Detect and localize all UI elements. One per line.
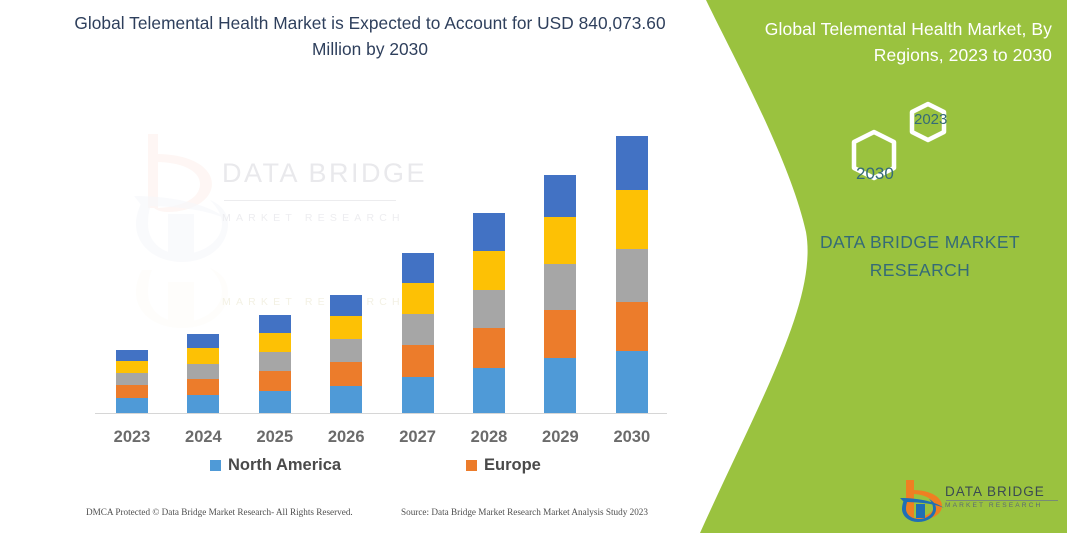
panel-brand-line2: RESEARCH	[790, 256, 1050, 284]
bar-segment-middle-east-and-africa[interactable]	[187, 334, 219, 348]
chart-plot-area	[0, 0, 700, 414]
footer-copyright: DMCA Protected © Data Bridge Market Rese…	[86, 507, 353, 517]
bar-segment-south-america[interactable]	[616, 190, 648, 249]
bar-segment-middle-east-and-africa[interactable]	[116, 350, 148, 361]
x-axis-label-2024: 2024	[173, 428, 233, 447]
bar-segment-north-america[interactable]	[330, 386, 362, 413]
bar-segment-north-america[interactable]	[259, 391, 291, 413]
bar-segment-asia-pacific[interactable]	[116, 373, 148, 385]
panel-brand-line1: DATA BRIDGE MARKET	[790, 228, 1050, 256]
bar-segment-south-america[interactable]	[116, 361, 148, 373]
bar-segment-north-america[interactable]	[116, 398, 148, 413]
bar-segment-asia-pacific[interactable]	[473, 290, 505, 328]
bar-2026[interactable]	[330, 295, 362, 413]
legend-swatch-icon	[210, 460, 221, 471]
bar-segment-south-america[interactable]	[544, 217, 576, 264]
bar-segment-south-america[interactable]	[330, 316, 362, 339]
legend-swatch-icon	[466, 460, 477, 471]
bar-segment-middle-east-and-africa[interactable]	[616, 136, 648, 190]
legend-label: Europe	[484, 456, 541, 475]
bar-segment-middle-east-and-africa[interactable]	[544, 175, 576, 217]
x-axis-label-2028: 2028	[459, 428, 519, 447]
bar-segment-europe[interactable]	[473, 328, 505, 368]
bar-segment-europe[interactable]	[187, 379, 219, 395]
bar-2023[interactable]	[116, 350, 148, 413]
x-axis-label-2025: 2025	[245, 428, 305, 447]
bar-segment-south-america[interactable]	[473, 251, 505, 290]
x-axis-label-2026: 2026	[316, 428, 376, 447]
bar-segment-asia-pacific[interactable]	[402, 314, 434, 345]
hexagon-group: 2030 2023	[820, 98, 1000, 208]
x-axis-label-2027: 2027	[388, 428, 448, 447]
x-axis-labels: 20232024202520262027202820292030	[0, 428, 700, 454]
bar-segment-europe[interactable]	[259, 371, 291, 391]
bar-segment-middle-east-and-africa[interactable]	[402, 253, 434, 283]
bar-segment-middle-east-and-africa[interactable]	[330, 295, 362, 316]
legend-label: North America	[228, 456, 341, 475]
bar-segment-asia-pacific[interactable]	[259, 352, 291, 371]
bar-2028[interactable]	[473, 213, 505, 413]
x-axis-label-2023: 2023	[102, 428, 162, 447]
bar-2029[interactable]	[544, 175, 576, 413]
bar-segment-europe[interactable]	[544, 310, 576, 358]
bar-segment-middle-east-and-africa[interactable]	[259, 315, 291, 333]
infographic-canvas: Global Telemental Health Market, By Regi…	[0, 0, 1067, 533]
panel-brand-text: DATA BRIDGE MARKET RESEARCH	[790, 228, 1050, 284]
hexagon-2023-label: 2023	[914, 111, 947, 128]
bar-segment-asia-pacific[interactable]	[544, 264, 576, 310]
legend-item-europe[interactable]: Europe	[466, 456, 541, 475]
bar-2030[interactable]	[616, 136, 648, 413]
x-axis-line	[95, 413, 667, 414]
bar-segment-south-america[interactable]	[187, 348, 219, 364]
bar-segment-europe[interactable]	[116, 385, 148, 398]
bar-2025[interactable]	[259, 315, 291, 413]
bar-segment-asia-pacific[interactable]	[616, 249, 648, 302]
bar-segment-north-america[interactable]	[402, 377, 434, 413]
bar-segment-europe[interactable]	[402, 345, 434, 377]
data-bridge-logo-text: DATA BRIDGE MARKET RESEARCH	[945, 484, 1065, 512]
bar-segment-middle-east-and-africa[interactable]	[473, 213, 505, 251]
bar-segment-south-america[interactable]	[259, 333, 291, 352]
logo-text-line2: MARKET RESEARCH	[945, 500, 1065, 512]
bar-segment-north-america[interactable]	[187, 395, 219, 413]
bar-segment-europe[interactable]	[616, 302, 648, 351]
bar-2024[interactable]	[187, 334, 219, 413]
bar-segment-north-america[interactable]	[616, 351, 648, 413]
bar-segment-north-america[interactable]	[544, 358, 576, 413]
bar-segment-south-america[interactable]	[402, 283, 434, 314]
chart-legend: North AmericaEurope	[0, 456, 700, 480]
hexagon-2030-label: 2030	[856, 164, 894, 184]
logo-divider	[946, 500, 1058, 501]
footer-source: Source: Data Bridge Market Research Mark…	[401, 507, 648, 517]
x-axis-label-2030: 2030	[602, 428, 662, 447]
bar-segment-asia-pacific[interactable]	[187, 364, 219, 379]
stacked-bar-chart: 20232024202520262027202820292030 North A…	[0, 0, 700, 533]
bar-segment-north-america[interactable]	[473, 368, 505, 413]
x-axis-label-2029: 2029	[530, 428, 590, 447]
bar-segment-asia-pacific[interactable]	[330, 339, 362, 362]
panel-title: Global Telemental Health Market, By Regi…	[742, 16, 1052, 68]
bar-2027[interactable]	[402, 253, 434, 413]
logo-text-line1: DATA BRIDGE	[945, 484, 1065, 499]
bar-segment-europe[interactable]	[330, 362, 362, 386]
legend-item-north-america[interactable]: North America	[210, 456, 341, 475]
